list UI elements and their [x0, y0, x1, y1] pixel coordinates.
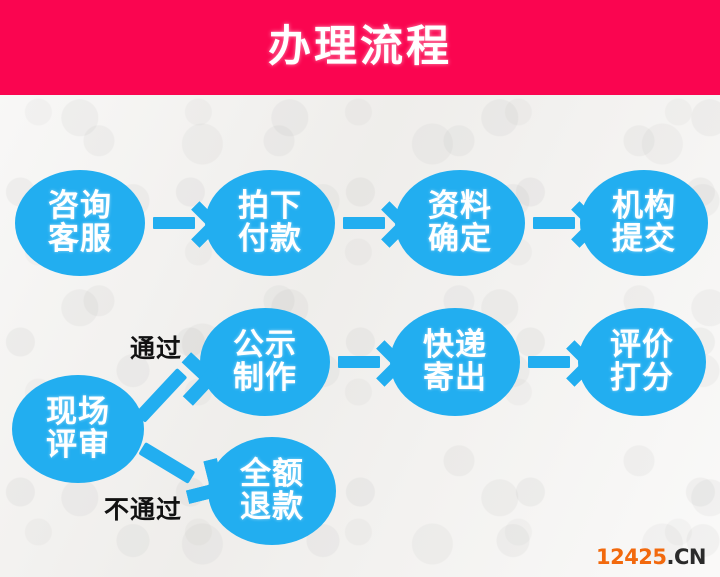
- flow-node-submit-line1: 机构: [612, 190, 676, 223]
- branch-label-pass: 通过: [130, 329, 182, 365]
- flow-node-express[interactable]: 快递 寄出: [390, 308, 520, 416]
- watermark-number: 12425: [596, 545, 667, 569]
- flow-node-submit[interactable]: 机构 提交: [580, 170, 708, 276]
- flow-node-review-line1: 现场: [46, 396, 110, 429]
- flow-node-materials-line2: 确定: [428, 223, 492, 256]
- flow-node-consult-line2: 客服: [48, 223, 112, 256]
- flow-node-publicity-line1: 公示: [233, 329, 297, 362]
- watermark-tld: .CN: [667, 545, 706, 569]
- branch-label-not-pass: 不通过: [104, 490, 182, 526]
- flow-node-refund-line1: 全额: [240, 458, 304, 491]
- site-watermark: 12425.CN: [596, 545, 706, 569]
- flow-node-payment-line1: 拍下: [238, 190, 302, 223]
- flow-node-materials[interactable]: 资料 确定: [395, 170, 525, 276]
- flow-node-express-line1: 快递: [423, 329, 487, 362]
- flow-node-review[interactable]: 现场 评审: [12, 375, 144, 483]
- header-banner: 办理流程: [0, 0, 720, 95]
- arrow-express-to-rating: [528, 342, 584, 382]
- flow-node-materials-line1: 资料: [428, 190, 492, 223]
- flow-node-refund-line2: 退款: [240, 491, 304, 524]
- flow-node-consult[interactable]: 咨询 客服: [15, 170, 145, 276]
- flow-node-submit-line2: 提交: [612, 223, 676, 256]
- flow-node-review-line2: 评审: [46, 429, 110, 462]
- arrow-publicity-to-express: [338, 342, 394, 382]
- flow-node-payment-line2: 付款: [238, 223, 302, 256]
- flow-node-refund[interactable]: 全额 退款: [208, 437, 336, 545]
- flow-node-express-line2: 寄出: [423, 362, 487, 395]
- flow-node-payment[interactable]: 拍下 付款: [205, 170, 335, 276]
- flow-node-consult-line1: 咨询: [48, 190, 112, 223]
- flowchart-page: 办理流程 咨询 客服 拍下 付款 资料 确定 机构 提交 公示 制作 快递: [0, 0, 720, 577]
- flow-node-rating[interactable]: 评价 打分: [578, 308, 706, 416]
- flow-node-rating-line2: 打分: [610, 362, 674, 395]
- arrow-consult-to-payment: [153, 203, 209, 243]
- page-title: 办理流程: [268, 26, 452, 69]
- flow-node-publicity-line2: 制作: [233, 362, 297, 395]
- flow-node-rating-line1: 评价: [610, 329, 674, 362]
- flow-node-publicity[interactable]: 公示 制作: [200, 308, 330, 416]
- arrow-payment-to-materials: [343, 203, 399, 243]
